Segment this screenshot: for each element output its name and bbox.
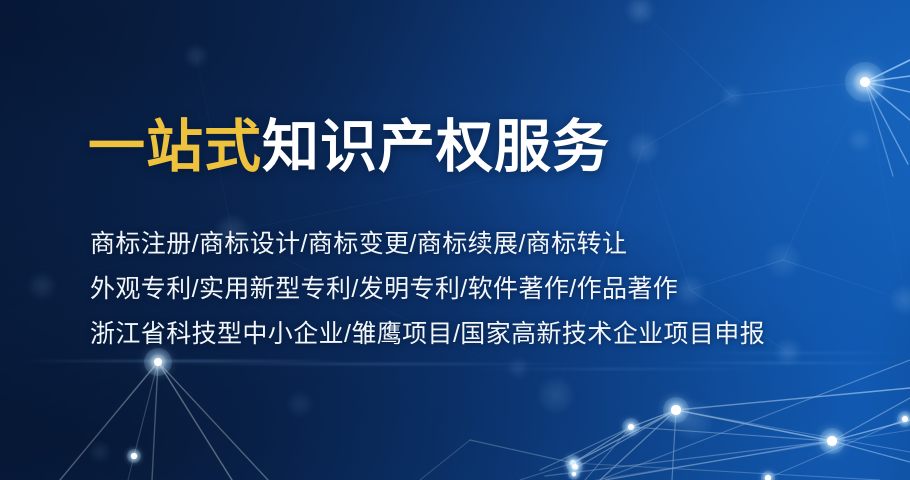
headline-accent: 一站式 <box>88 115 262 179</box>
service-line-enterprise-programs: 浙江省科技型中小企业/雏鹰项目/国家高新技术企业项目申报 <box>90 312 765 357</box>
service-line-patent-copyright: 外观专利/实用新型专利/发明专利/软件著作/作品著作 <box>90 267 765 312</box>
service-list: 商标注册/商标设计/商标变更/商标续展/商标转让 外观专利/实用新型专利/发明专… <box>90 222 765 357</box>
headline-main: 知识产权服务 <box>262 115 610 179</box>
service-line-trademark: 商标注册/商标设计/商标变更/商标续展/商标转让 <box>90 222 765 267</box>
banner-content: 一站式知识产权服务 商标注册/商标设计/商标变更/商标续展/商标转让 外观专利/… <box>88 0 848 480</box>
page-title: 一站式知识产权服务 <box>88 116 610 180</box>
promotional-banner: 一站式知识产权服务 商标注册/商标设计/商标变更/商标续展/商标转让 外观专利/… <box>0 0 910 480</box>
